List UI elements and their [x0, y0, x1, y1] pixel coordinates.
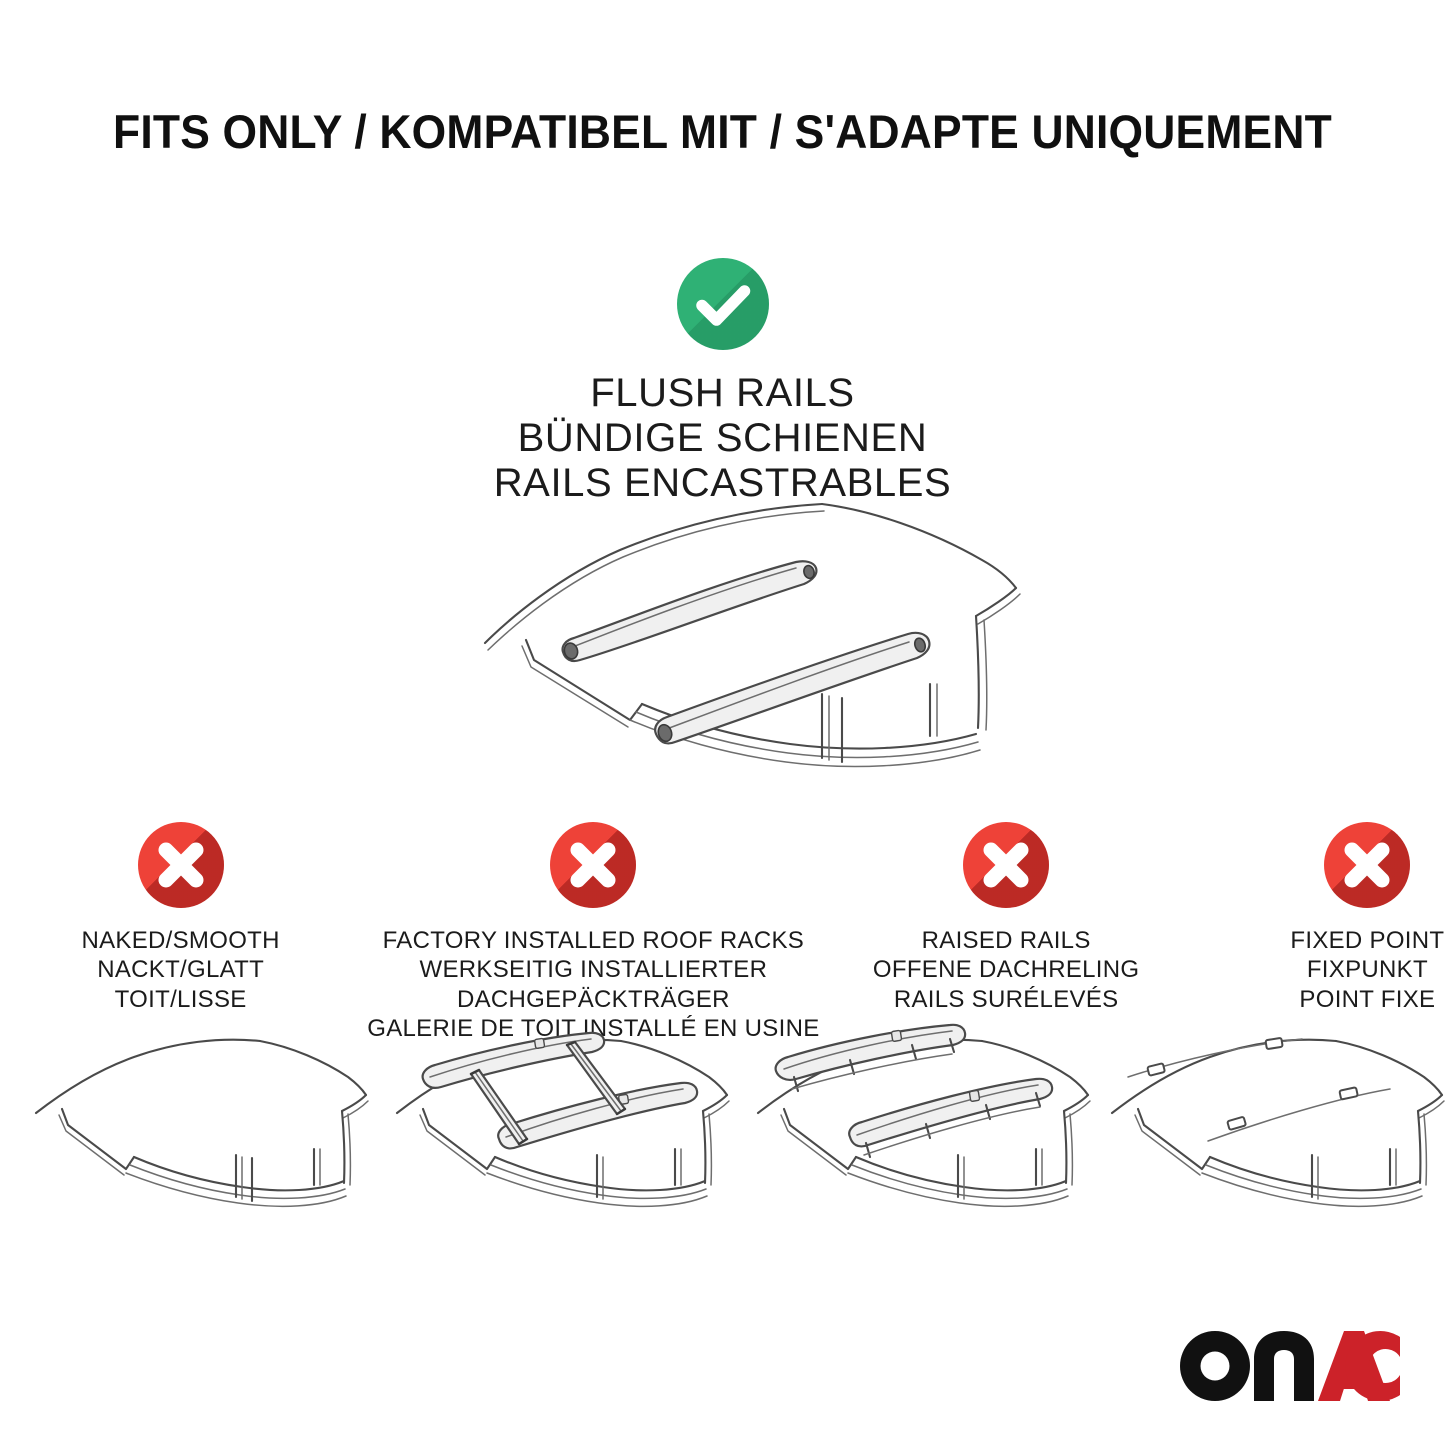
label-line-de-2: DACHGEPÄCKTRÄGER — [367, 985, 819, 1014]
rejected-column-fixed-point: FIXED POINT FIXPUNKT POINT FIXE — [1187, 822, 1445, 1043]
illustration-raised-rails — [736, 1015, 1097, 1230]
rejected-label: NAKED/SMOOTH NACKT/GLATT TOIT/LISSE — [6, 926, 355, 1014]
label-line-fr: POINT FIXE — [1193, 985, 1445, 1014]
omac-logo — [1178, 1329, 1400, 1403]
rejected-column-factory-roof-racks: FACTORY INSTALLED ROOF RACKS WERKSEITIG … — [361, 822, 825, 1043]
compatibility-infographic: FITS ONLY / KOMPATIBEL MIT / S'ADAPTE UN… — [0, 0, 1445, 1445]
approved-line-de: BÜNDIGE SCHIENEN — [0, 416, 1445, 461]
label-line-en: FIXED POINT — [1193, 926, 1445, 955]
rejected-label: RAISED RAILS OFFENE DACHRELING RAILS SUR… — [832, 926, 1181, 1014]
label-line-fr: RAILS SURÉLEVÉS — [832, 985, 1181, 1014]
header: FITS ONLY / KOMPATIBEL MIT / S'ADAPTE UN… — [0, 104, 1445, 159]
rejected-columns: NAKED/SMOOTH NACKT/GLATT TOIT/LISSE FACT… — [0, 822, 1445, 1043]
label-line-fr: TOIT/LISSE — [6, 985, 355, 1014]
page-title: FITS ONLY / KOMPATIBEL MIT / S'ADAPTE UN… — [40, 104, 1406, 159]
illustration-fixed-point — [1090, 1015, 1445, 1230]
approved-line-en: FLUSH RAILS — [0, 371, 1445, 416]
illustration-naked-smooth — [14, 1015, 375, 1230]
label-line-de: FIXPUNKT — [1193, 955, 1445, 984]
x-circle-icon — [963, 822, 1049, 908]
label-line-de-1: WERKSEITIG INSTALLIERTER — [367, 955, 819, 984]
x-circle-icon — [550, 822, 636, 908]
x-circle-icon — [1324, 822, 1410, 908]
rejected-column-raised-rails: RAISED RAILS OFFENE DACHRELING RAILS SUR… — [826, 822, 1187, 1043]
illustration-factory-roof-racks — [375, 1015, 736, 1230]
logo-letter-m — [1254, 1331, 1314, 1401]
label-line-en: RAISED RAILS — [832, 926, 1181, 955]
rejected-column-naked-smooth: NAKED/SMOOTH NACKT/GLATT TOIT/LISSE — [0, 822, 361, 1043]
label-line-en: FACTORY INSTALLED ROOF RACKS — [367, 926, 819, 955]
label-line-de: OFFENE DACHRELING — [832, 955, 1181, 984]
label-line-de: NACKT/GLATT — [6, 955, 355, 984]
illustration-flush-rails — [430, 468, 1050, 768]
rejected-label: FIXED POINT FIXPUNKT POINT FIXE — [1193, 926, 1445, 1014]
logo-letter-o — [1180, 1331, 1250, 1401]
x-circle-icon — [138, 822, 224, 908]
label-line-en: NAKED/SMOOTH — [6, 926, 355, 955]
check-circle-icon — [677, 258, 769, 350]
